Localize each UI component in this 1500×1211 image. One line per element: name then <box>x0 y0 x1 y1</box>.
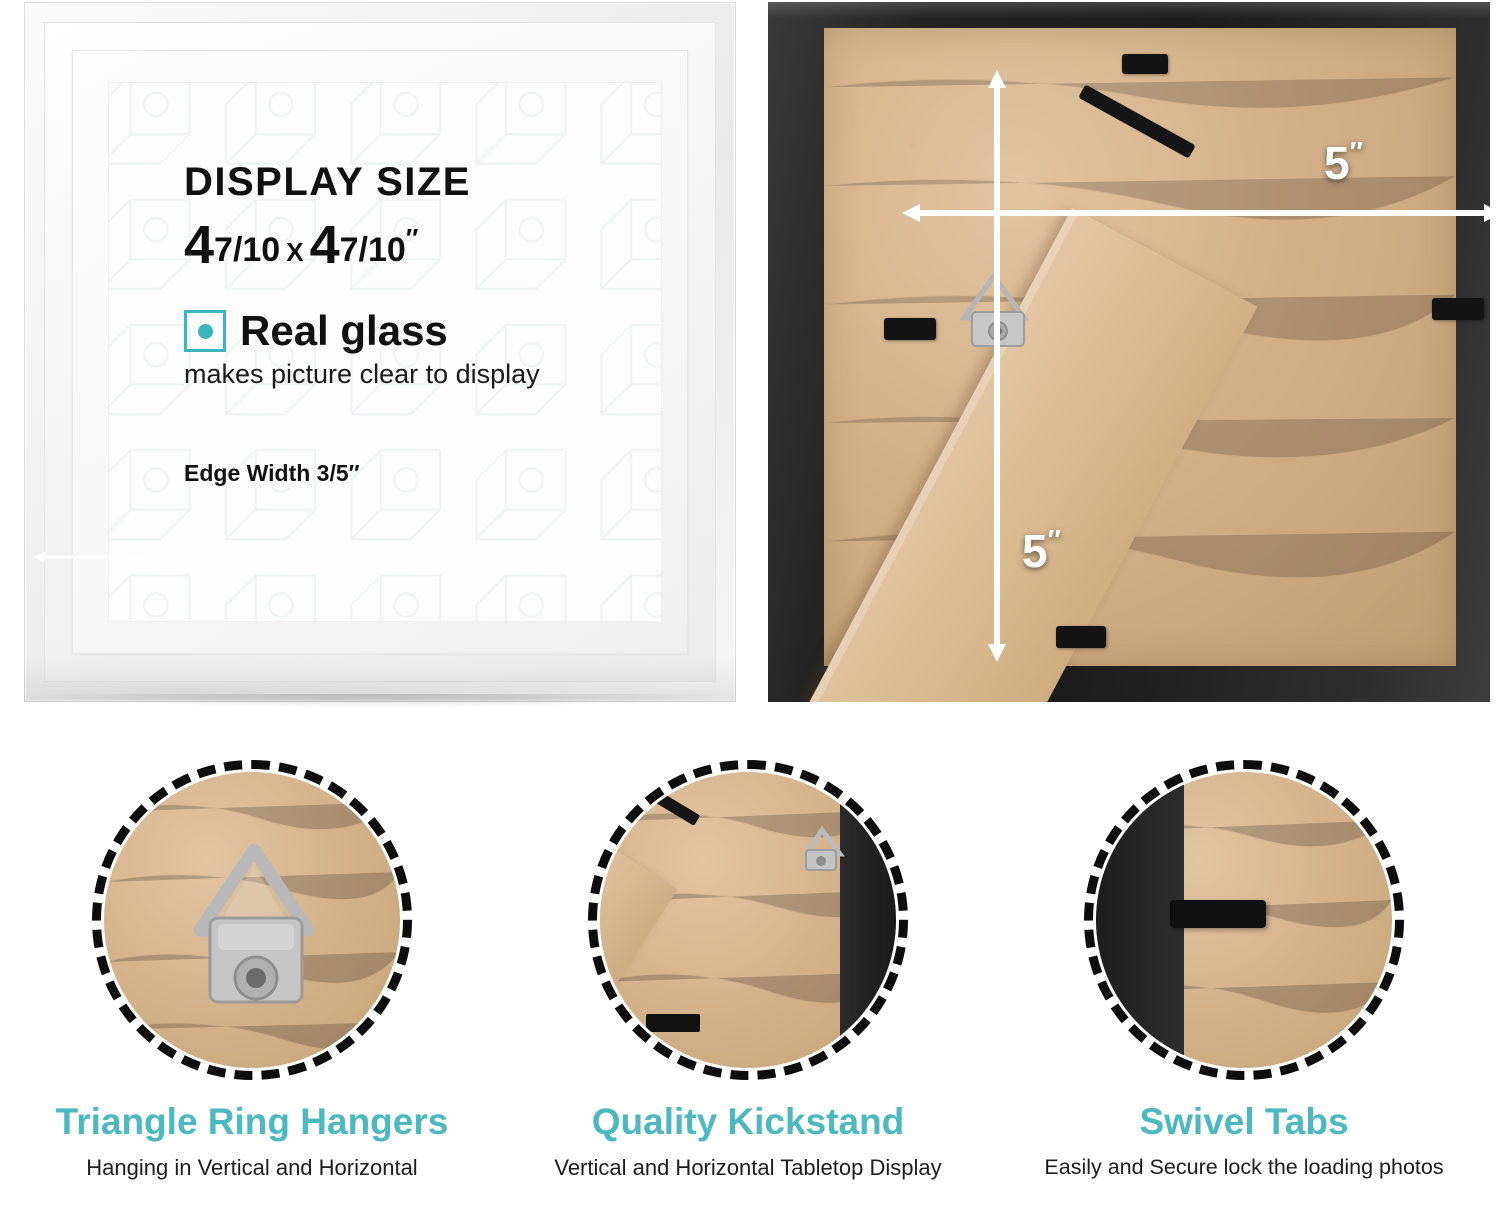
size-separator: X <box>280 237 309 267</box>
vertical-measure-arrow-icon <box>988 70 1006 662</box>
dot-in-square-icon <box>184 310 226 352</box>
backing-board: 5″ 5″ <box>824 28 1456 666</box>
real-glass-subtitle: makes picture clear to display <box>184 360 654 390</box>
size-fraction-1: 7/10 <box>214 231 280 269</box>
frame-drop-shadow <box>34 694 726 708</box>
white-frame-front-image: DISPLAY SIZE 47/10X47/10″ Real glass mak… <box>24 2 736 702</box>
kickstand-corner-cut <box>928 700 1031 702</box>
feature-1-title: Triangle Ring Hangers <box>12 1102 492 1143</box>
size-value-1: 4 <box>184 215 214 275</box>
feature-2-circle <box>588 760 908 1080</box>
feature-3-circle <box>1084 760 1404 1080</box>
width-measure-value: 5 <box>1324 137 1350 189</box>
black-frame-back-image: 5″ 5″ <box>768 2 1490 702</box>
real-glass-title: Real glass <box>240 310 448 352</box>
size-unit: ″ <box>406 223 418 253</box>
height-measure-unit: ″ <box>1048 524 1061 555</box>
feature-2-subtitle: Vertical and Horizontal Tabletop Display <box>508 1155 988 1181</box>
real-glass-row: Real glass <box>184 310 654 352</box>
swivel-tab-top <box>1122 54 1168 74</box>
swivel-tab-left <box>884 318 936 340</box>
feature-swivel-tabs: Swivel Tabs Easily and Secure lock the l… <box>1004 760 1484 1180</box>
feature-quality-kickstand: Quality Kickstand Vertical and Horizonta… <box>508 760 988 1181</box>
feature-3-subtitle: Easily and Secure lock the loading photo… <box>1004 1155 1484 1181</box>
size-fraction-2: 7/10 <box>340 231 406 269</box>
width-measure-label: 5″ <box>1324 136 1363 190</box>
front-text-block: DISPLAY SIZE 47/10X47/10″ Real glass mak… <box>184 162 654 487</box>
product-detail-panel: DISPLAY SIZE 47/10X47/10″ Real glass mak… <box>0 0 1500 710</box>
feature-2-title: Quality Kickstand <box>508 1102 988 1143</box>
display-size-value: 47/10X47/10″ <box>184 218 654 272</box>
feature-2-dashed-ring <box>588 760 908 1080</box>
edge-width-label: Edge Width 3/5″ <box>184 460 654 487</box>
width-measure-unit: ″ <box>1350 136 1363 167</box>
feature-triangle-ring-hangers: Triangle Ring Hangers Hanging in Vertica… <box>12 760 492 1181</box>
swivel-tab-right <box>1432 298 1484 320</box>
feature-1-circle <box>92 760 412 1080</box>
feature-1-dashed-ring <box>92 760 412 1080</box>
feature-1-subtitle: Hanging in Vertical and Horizontal <box>12 1155 492 1181</box>
left-right-arrow-icon <box>34 550 144 564</box>
display-size-label: DISPLAY SIZE <box>184 162 654 202</box>
size-value-2: 4 <box>310 215 340 275</box>
height-measure-value: 5 <box>1022 525 1048 577</box>
frame-back-rim-highlight <box>768 2 1490 18</box>
swivel-tab-bottom <box>1056 626 1106 648</box>
feature-3-dashed-ring <box>1084 760 1404 1080</box>
feature-3-title: Swivel Tabs <box>1004 1102 1484 1143</box>
height-measure-label: 5″ <box>1022 524 1061 578</box>
features-row: Triangle Ring Hangers Hanging in Vertica… <box>0 760 1500 1211</box>
